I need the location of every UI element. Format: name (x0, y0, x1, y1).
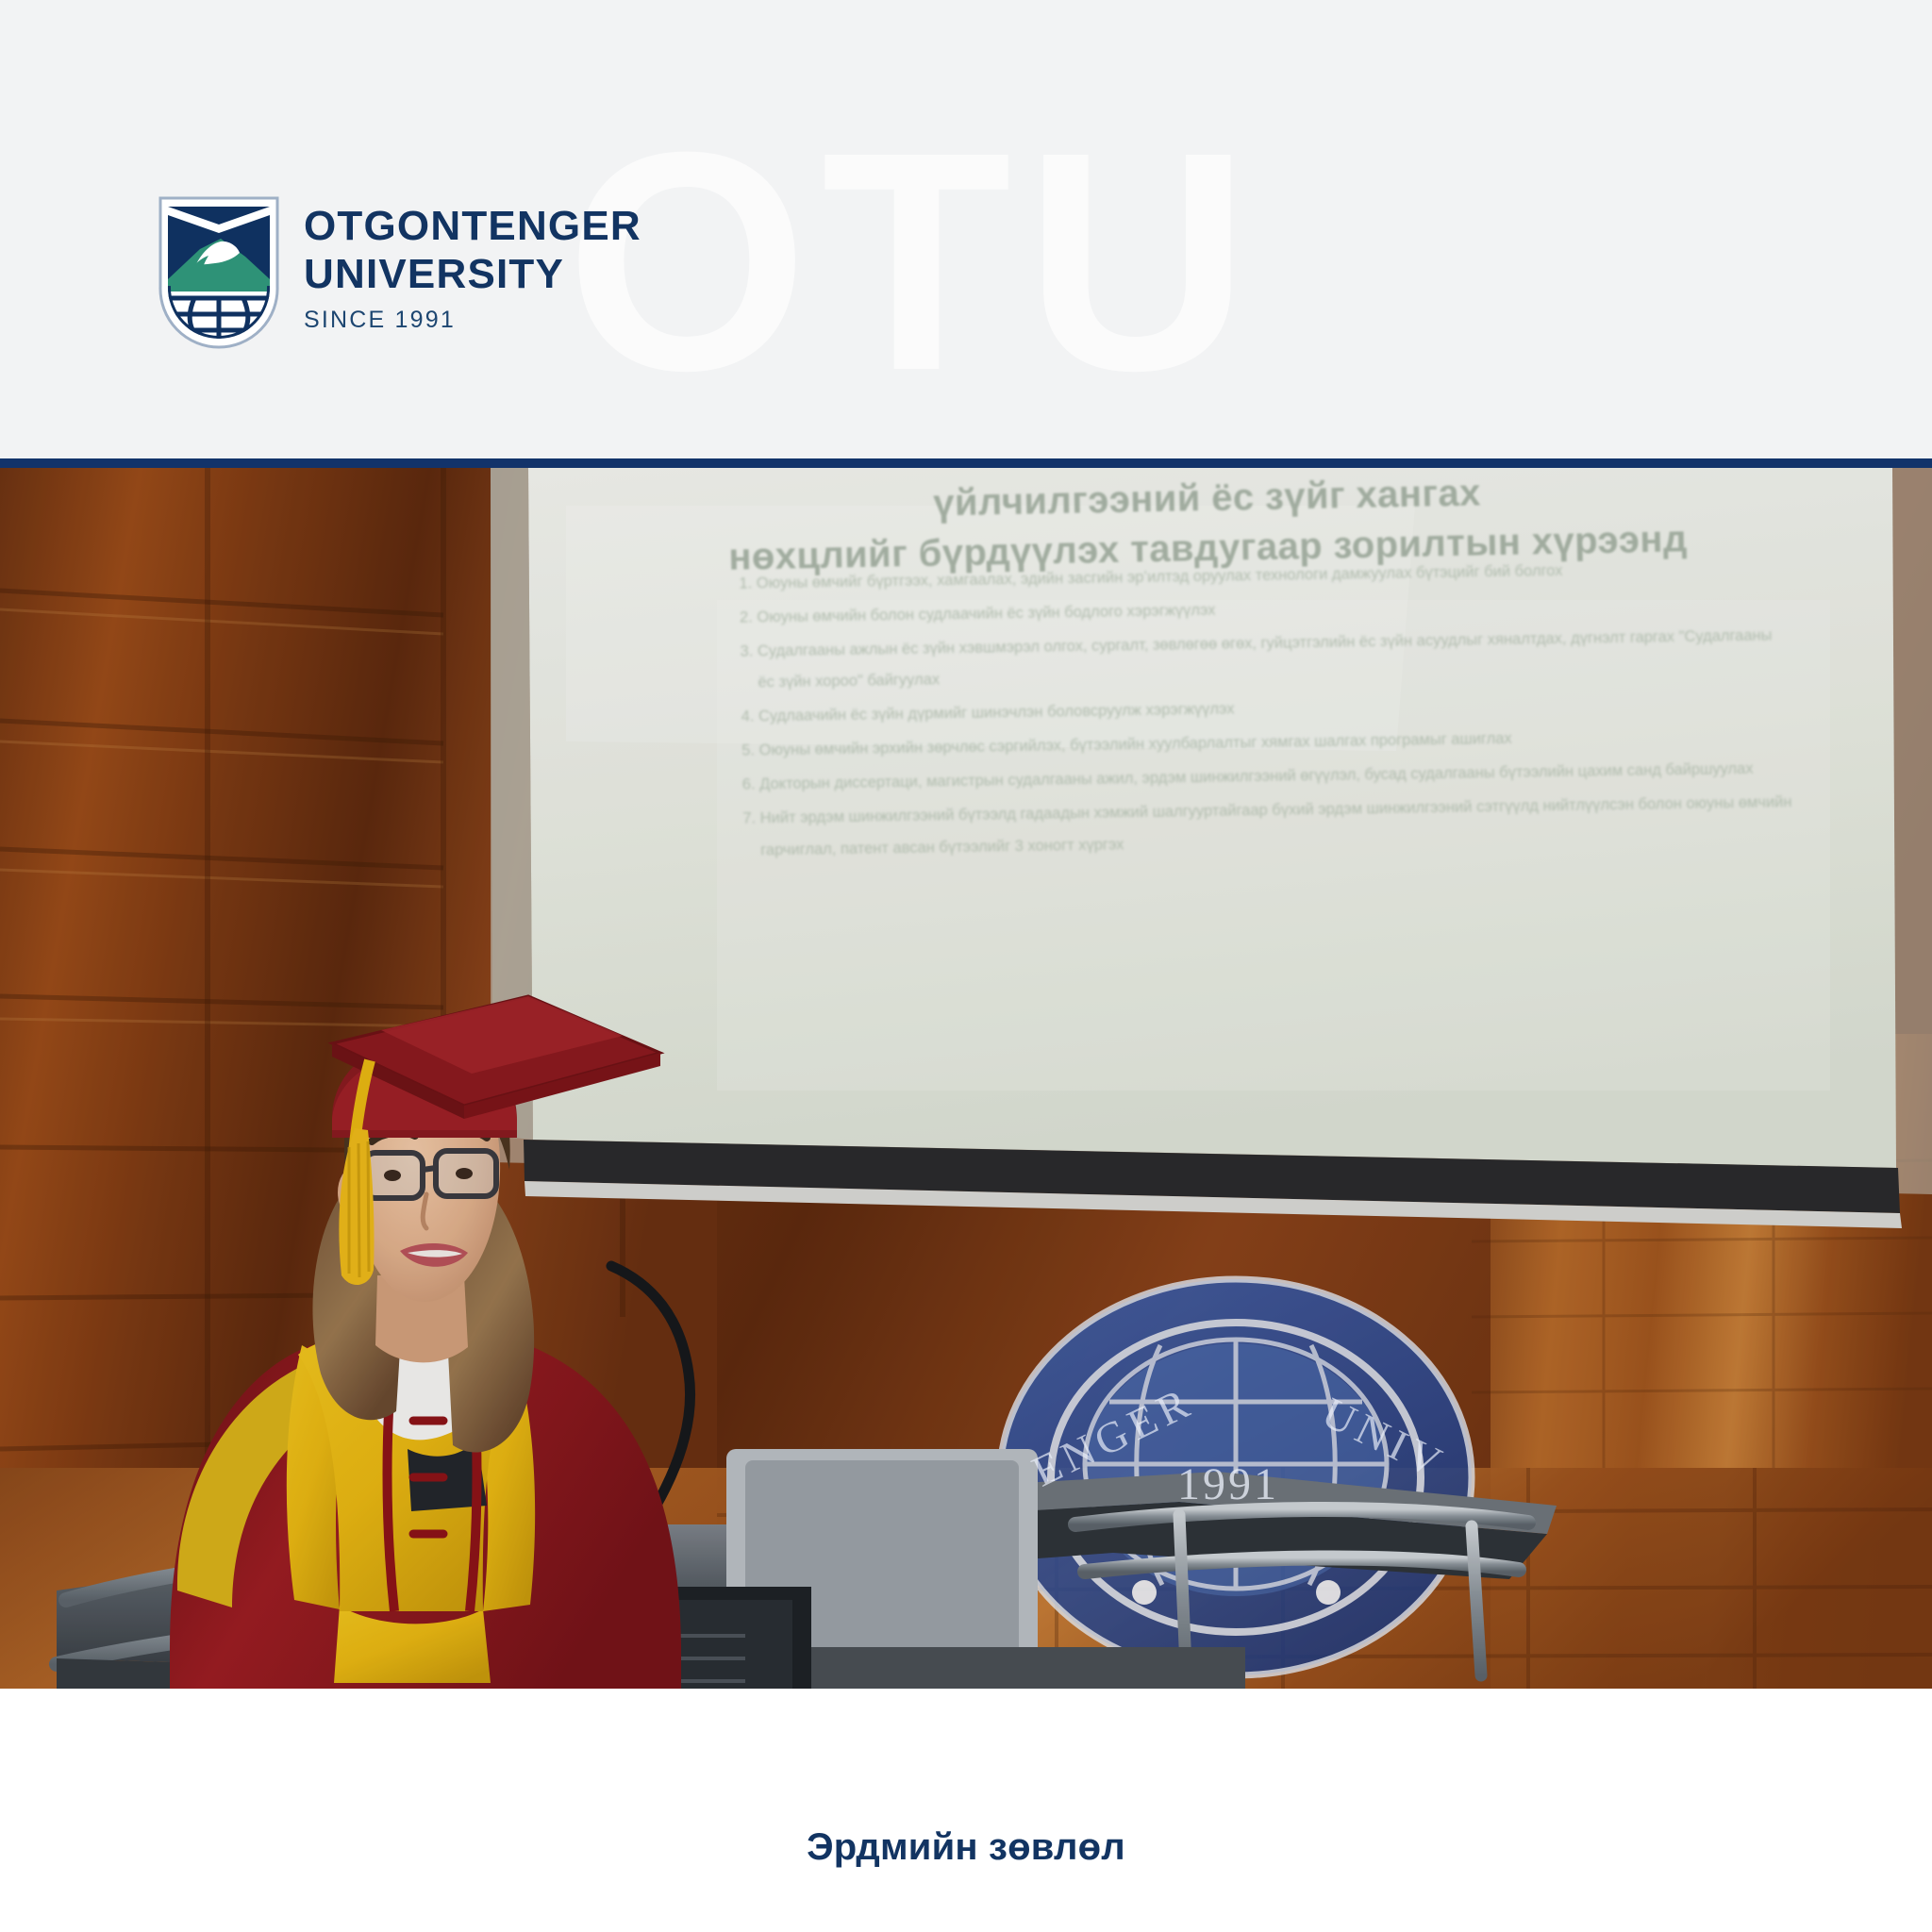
navy-divider (0, 458, 1932, 468)
article-card: OTU (0, 0, 1932, 1932)
speaker-at-podium-photo: үйлчилгээний ёс зүйг хангах нөхцлийг бүр… (0, 468, 1932, 1689)
logo-wordmark: OTGONTENGER UNIVERSITY SINCE 1991 (304, 196, 641, 334)
caption-area: Эрдмийн зөвлөл (0, 1689, 1932, 1932)
logo-since-label: SINCE 1991 (304, 307, 641, 334)
header: OTU (0, 0, 1932, 458)
logo-line-1: OTGONTENGER (304, 202, 641, 250)
logo-line-2: UNIVERSITY (304, 250, 641, 298)
photo-scene (0, 468, 1932, 1689)
otgontenger-crest-icon (158, 196, 279, 349)
university-logo[interactable]: OTGONTENGER UNIVERSITY SINCE 1991 (158, 196, 641, 349)
caption-text: Эрдмийн зөвлөл (807, 1826, 1125, 1869)
otu-watermark: OTU (566, 106, 1263, 417)
